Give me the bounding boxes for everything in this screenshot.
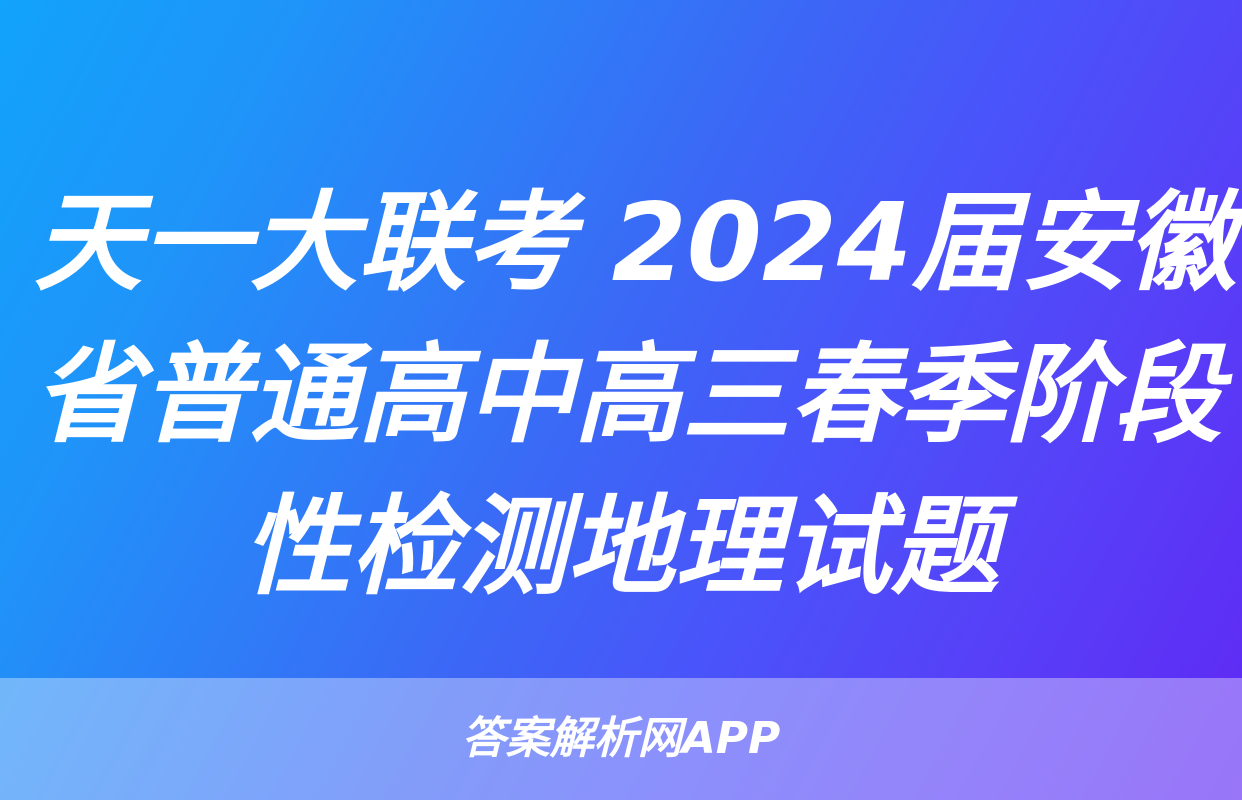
- title-line-3: 性检测地理试题: [34, 472, 1208, 624]
- page-title: 天一大联考 2024届安徽 省普通高中高三春季阶段 性检测地理试题: [0, 168, 1242, 624]
- watermark-label: 答案解析网APP: [462, 717, 781, 761]
- poster-canvas: 天一大联考 2024届安徽 省普通高中高三春季阶段 性检测地理试题 答案解析网A…: [0, 0, 1242, 800]
- title-line-1: 天一大联考 2024届安徽: [34, 168, 1208, 320]
- title-line-2: 省普通高中高三春季阶段: [34, 320, 1208, 472]
- watermark-bar: 答案解析网APP: [0, 678, 1242, 800]
